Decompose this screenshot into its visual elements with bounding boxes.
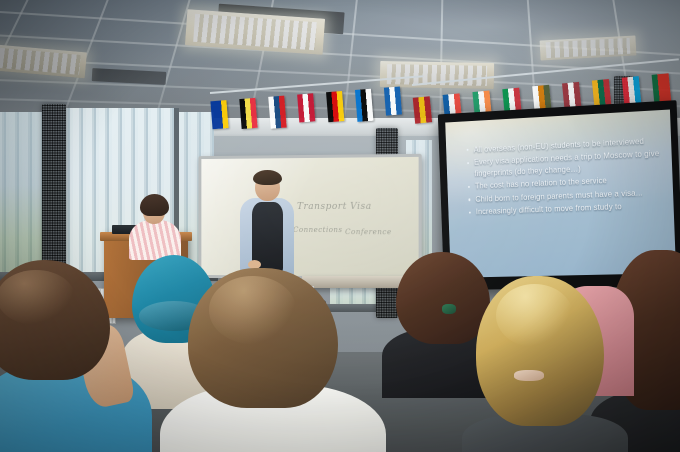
hair-barrette (514, 370, 544, 381)
flag-estonia (355, 89, 373, 122)
whiteboard-text-2: Connections (293, 226, 343, 234)
flag-spain (413, 96, 432, 124)
hair-clip (442, 304, 456, 314)
whiteboard-text-3: Conference (345, 228, 392, 236)
flag-lithuania (592, 79, 611, 107)
flag-germany (326, 91, 344, 122)
seminar-room-photo: Transport Visa Connections Conference Al… (0, 0, 680, 452)
flag-czech-republic (268, 96, 286, 129)
flag-denmark (297, 93, 315, 122)
female-presenter (129, 196, 181, 254)
audience-center (178, 268, 374, 452)
audience-blonde (468, 276, 628, 452)
flag-belgium (239, 98, 257, 129)
flag-luxembourg (622, 76, 642, 106)
whiteboard-text-1: Transport Visa (297, 202, 372, 212)
audience-left-blue (0, 260, 134, 452)
flag-greece (384, 86, 402, 115)
slide-bullet-list: All overseas (non-EU) students to be int… (465, 134, 666, 220)
flag-european-union (210, 100, 228, 129)
